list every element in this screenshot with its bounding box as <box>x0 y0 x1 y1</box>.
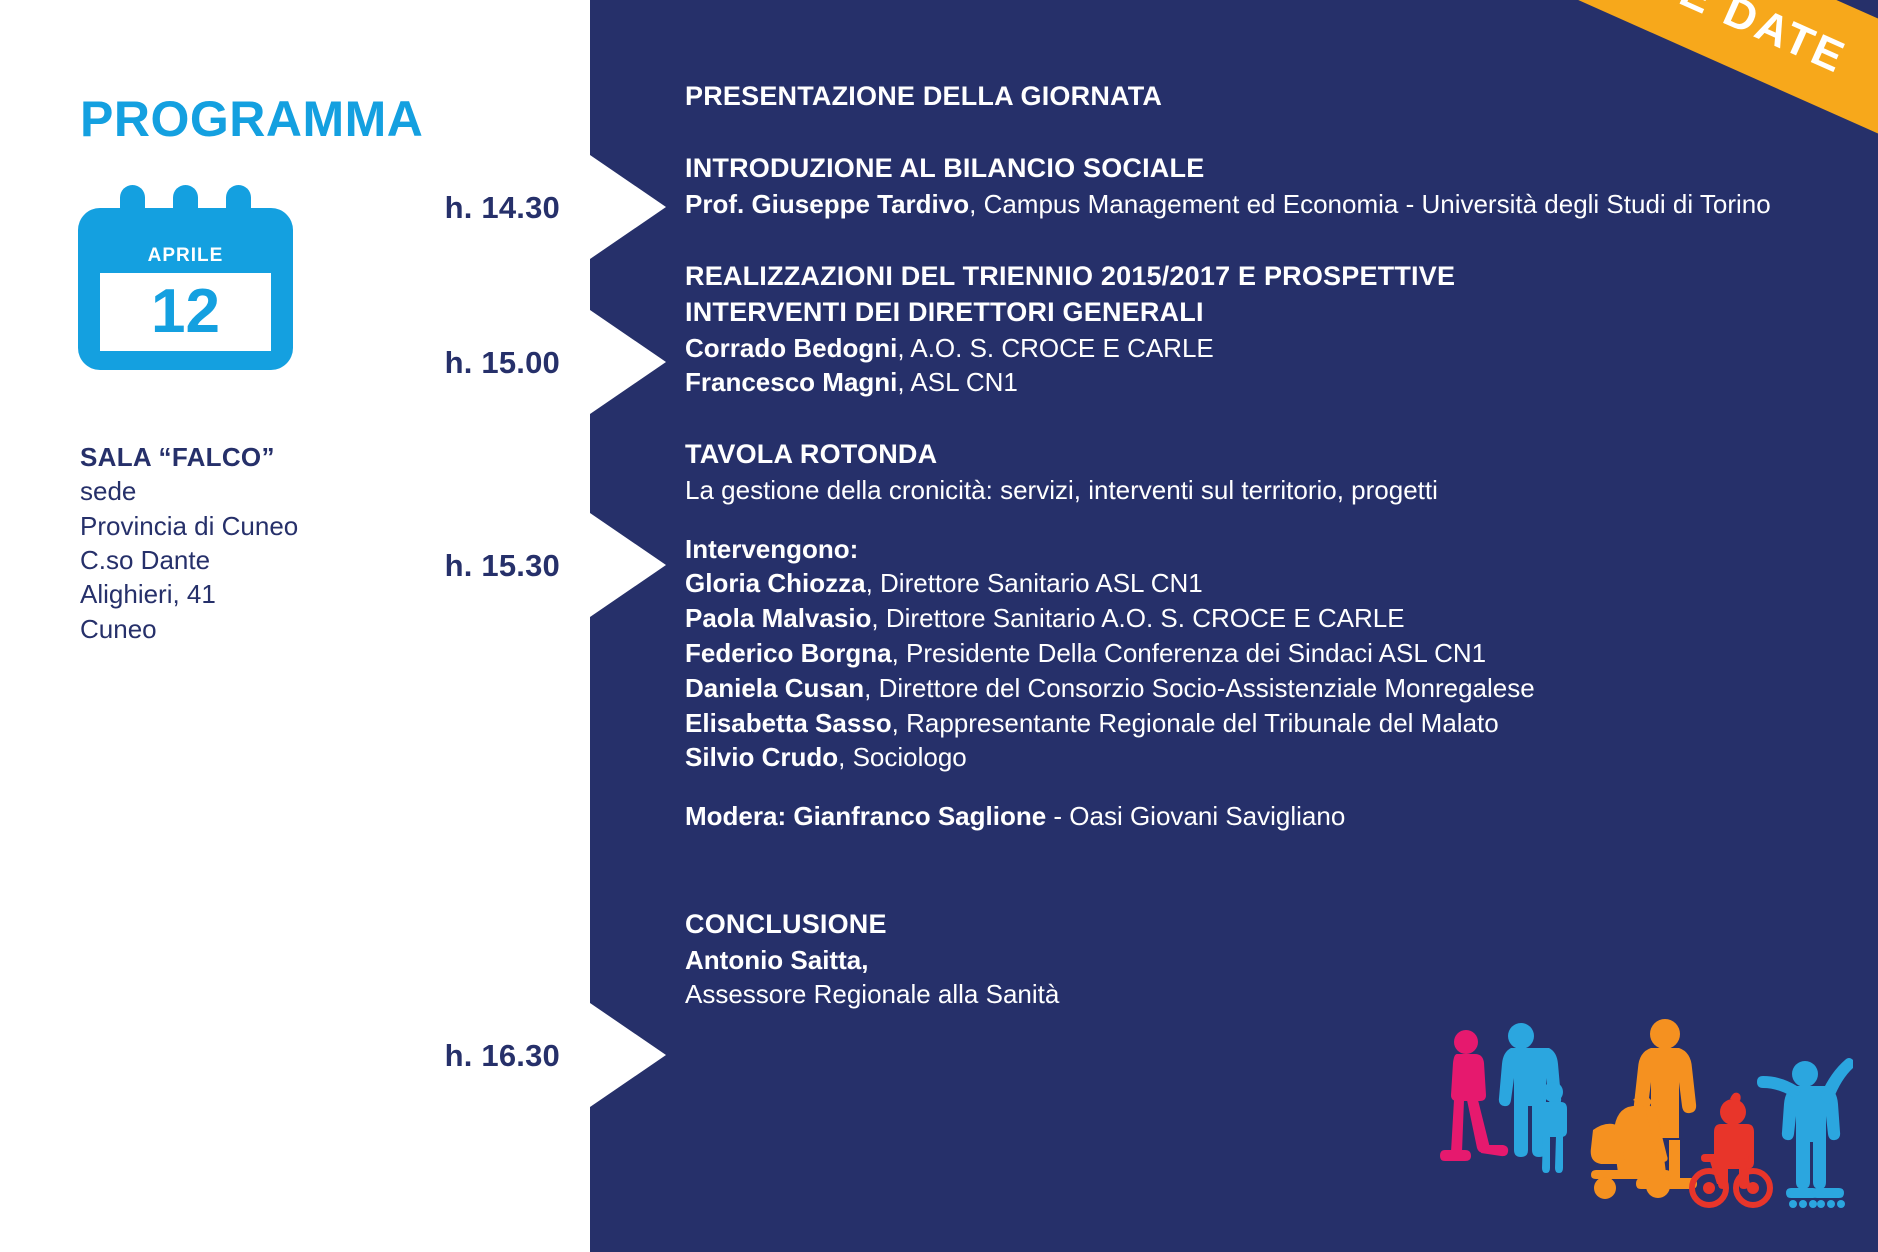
panelist-role: , Direttore Sanitario ASL CN1 <box>866 568 1203 598</box>
introduzione-speaker: Prof. Giuseppe Tardivo, Campus Managemen… <box>685 187 1805 222</box>
arrow-notch-4 <box>590 1003 666 1107</box>
panelist-row: Silvio Crudo, Sociologo <box>685 740 1805 775</box>
spacer <box>685 870 1805 906</box>
venue-line-street: C.so Dante <box>80 543 380 577</box>
moderator-name: Modera: Gianfranco Saglione <box>685 801 1046 831</box>
program-content: PRESENTAZIONE DELLA GIORNATA INTRODUZION… <box>685 78 1805 1012</box>
figure-man-with-stroller-icon <box>1591 1019 1697 1199</box>
panelist-row: Elisabetta Sasso, Rappresentante Regiona… <box>685 706 1805 741</box>
spacer <box>685 775 1805 799</box>
panelist-name: Federico Borgna <box>685 638 892 668</box>
calendar-month-label: APRILE <box>78 245 293 267</box>
panelist-row: Gloria Chiozza, Direttore Sanitario ASL … <box>685 566 1805 601</box>
calendar-icon: APRILE 12 <box>78 185 293 370</box>
presentazione-heading: PRESENTAZIONE DELLA GIORNATA <box>685 78 1805 114</box>
tavola-rotonda-subtitle: La gestione della cronicità: servizi, in… <box>685 473 1805 508</box>
figure-child-on-bike-icon <box>1692 1093 1770 1205</box>
panelist-name: Daniela Cusan <box>685 673 864 703</box>
time-label-1430: h. 14.30 <box>360 190 560 226</box>
conclusione-speaker-name: Antonio Saitta, <box>685 943 1805 978</box>
venue-line-city: Cuneo <box>80 612 380 646</box>
speaker-role: , A.O. S. CROCE E CARLE <box>897 333 1213 363</box>
arrow-notch-2 <box>590 310 666 414</box>
figure-walking-man-icon <box>1440 1030 1508 1161</box>
realizzazioni-speaker-1: Corrado Bedogni, A.O. S. CROCE E CARLE <box>685 331 1805 366</box>
speaker-role: , ASL CN1 <box>897 367 1017 397</box>
panelist-name: Silvio Crudo <box>685 742 838 772</box>
program-panel: SAVE THE DATE PRESENTAZIONE DELLA GIORNA… <box>590 0 1878 1252</box>
program-block-conclusione: CONCLUSIONE Antonio Saitta, Assessore Re… <box>685 906 1805 1012</box>
panelist-row: Federico Borgna, Presidente Della Confer… <box>685 636 1805 671</box>
conclusione-heading: CONCLUSIONE <box>685 906 1805 942</box>
program-block-presentazione: PRESENTAZIONE DELLA GIORNATA <box>685 78 1805 114</box>
panelist-role: , Rappresentante Regionale del Tribunale… <box>892 708 1499 738</box>
panelist-row: Daniela Cusan, Direttore del Consorzio S… <box>685 671 1805 706</box>
realizzazioni-heading-line1: REALIZZAZIONI DEL TRIENNIO 2015/2017 E P… <box>685 258 1805 294</box>
left-column: PROGRAMMA APRILE 12 SALA “FALCO” sede Pr… <box>0 0 600 1252</box>
panelist-name: Elisabetta Sasso <box>685 708 892 738</box>
panelist-role: , Presidente Della Conferenza dei Sindac… <box>892 638 1486 668</box>
program-block-realizzazioni: REALIZZAZIONI DEL TRIENNIO 2015/2017 E P… <box>685 258 1805 401</box>
panelist-row: Paola Malvasio, Direttore Sanitario A.O.… <box>685 601 1805 636</box>
panelist-role: , Direttore del Consorzio Socio-Assisten… <box>864 673 1535 703</box>
arrow-notch-1 <box>590 155 666 259</box>
poster-root: PROGRAMMA APRILE 12 SALA “FALCO” sede Pr… <box>0 0 1878 1252</box>
program-block-tavola-rotonda: TAVOLA ROTONDA La gestione della cronici… <box>685 436 1805 834</box>
save-the-date-text: SAVE THE DATE <box>1482 0 1854 84</box>
tavola-rotonda-heading: TAVOLA ROTONDA <box>685 436 1805 472</box>
spacer <box>685 400 1805 436</box>
spacer <box>685 834 1805 870</box>
panelist-role: , Direttore Sanitario A.O. S. CROCE E CA… <box>871 603 1404 633</box>
moderator-row: Modera: Gianfranco Saglione - Oasi Giova… <box>685 799 1805 834</box>
venue-block: SALA “FALCO” sede Provincia di Cuneo C.s… <box>80 440 380 646</box>
spacer <box>685 508 1805 532</box>
program-block-introduzione: INTRODUZIONE AL BILANCIO SOCIALE Prof. G… <box>685 150 1805 221</box>
speaker-name: Francesco Magni <box>685 367 897 397</box>
speaker-name: Corrado Bedogni <box>685 333 897 363</box>
panelist-name: Paola Malvasio <box>685 603 871 633</box>
spacer <box>685 114 1805 150</box>
realizzazioni-speaker-2: Francesco Magni, ASL CN1 <box>685 365 1805 400</box>
spacer <box>685 222 1805 258</box>
page-title: PROGRAMMA <box>80 90 423 148</box>
time-label-1530: h. 15.30 <box>360 548 560 584</box>
venue-line-street-2: Alighieri, 41 <box>80 577 380 611</box>
calendar-day-number: 12 <box>100 269 271 355</box>
time-label-1500: h. 15.00 <box>360 345 560 381</box>
intervengono-label: Intervengono: <box>685 532 1805 567</box>
venue-name: SALA “FALCO” <box>80 440 380 474</box>
moderator-org: - Oasi Giovani Savigliano <box>1046 801 1345 831</box>
time-label-1630: h. 16.30 <box>360 1038 560 1074</box>
introduzione-speaker-name: Prof. Giuseppe Tardivo <box>685 189 969 219</box>
introduzione-speaker-role: , Campus Management ed Economia - Univer… <box>969 189 1771 219</box>
introduzione-heading: INTRODUZIONE AL BILANCIO SOCIALE <box>685 150 1805 186</box>
arrow-notch-3 <box>590 513 666 617</box>
venue-line-sede: sede <box>80 474 380 508</box>
panelist-name: Gloria Chiozza <box>685 568 866 598</box>
panelist-role: , Sociologo <box>838 742 967 772</box>
people-silhouettes-illustration <box>1433 1002 1853 1242</box>
venue-line-provincia: Provincia di Cuneo <box>80 509 380 543</box>
realizzazioni-heading-line2: INTERVENTI DEI DIRETTORI GENERALI <box>685 294 1805 330</box>
